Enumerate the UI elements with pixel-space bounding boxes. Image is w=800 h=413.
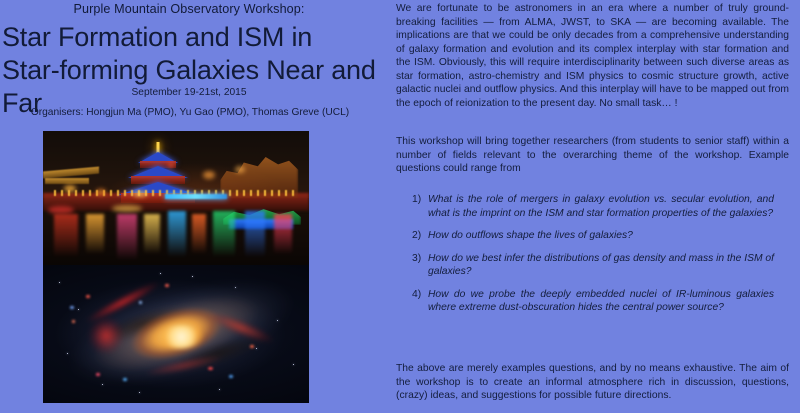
poster-page: Purple Mountain Observatory Workshop: St… xyxy=(0,0,800,413)
example-questions-list: 1) What is the role of mergers in galaxy… xyxy=(394,193,794,324)
list-item: 3) How do we best infer the distribution… xyxy=(394,252,794,279)
workshop-date: September 19-21st, 2015 xyxy=(0,87,378,98)
list-item: 4) How do we probe the deeply embedded n… xyxy=(394,288,794,315)
list-item: 2) How do outflows shape the lives of ga… xyxy=(394,229,794,243)
workshop-kicker: Purple Mountain Observatory Workshop: xyxy=(0,2,378,16)
poster-right-column: We are fortunate to be astronomers in an… xyxy=(394,0,796,413)
list-item-number: 4) xyxy=(412,288,421,302)
page-title: Star Formation and ISM in Star-forming G… xyxy=(2,21,376,120)
list-item-number: 3) xyxy=(412,252,421,266)
spiral-galaxy-photo xyxy=(43,265,309,403)
poster-left-column: Purple Mountain Observatory Workshop: St… xyxy=(0,0,390,413)
closing-paragraph: The above are merely examples questions,… xyxy=(394,362,794,403)
bring-together-paragraph: This workshop will bring together resear… xyxy=(394,135,794,176)
intro-paragraph: We are fortunate to be astronomers in an… xyxy=(394,2,794,110)
workshop-organisers: Organisers: Hongjun Ma (PMO), Yu Gao (PM… xyxy=(0,107,380,118)
list-item-label: How do we best infer the distributions o… xyxy=(428,253,774,278)
list-item: 1) What is the role of mergers in galaxy… xyxy=(394,193,794,220)
confucius-temple-night-photo xyxy=(43,131,309,265)
list-item-number: 2) xyxy=(412,229,421,243)
list-item-number: 1) xyxy=(412,193,421,207)
list-item-label: What is the role of mergers in galaxy ev… xyxy=(428,194,774,219)
list-item-label: How do outflows shape the lives of galax… xyxy=(428,230,633,241)
list-item-label: How do we probe the deeply embedded nucl… xyxy=(428,289,774,314)
